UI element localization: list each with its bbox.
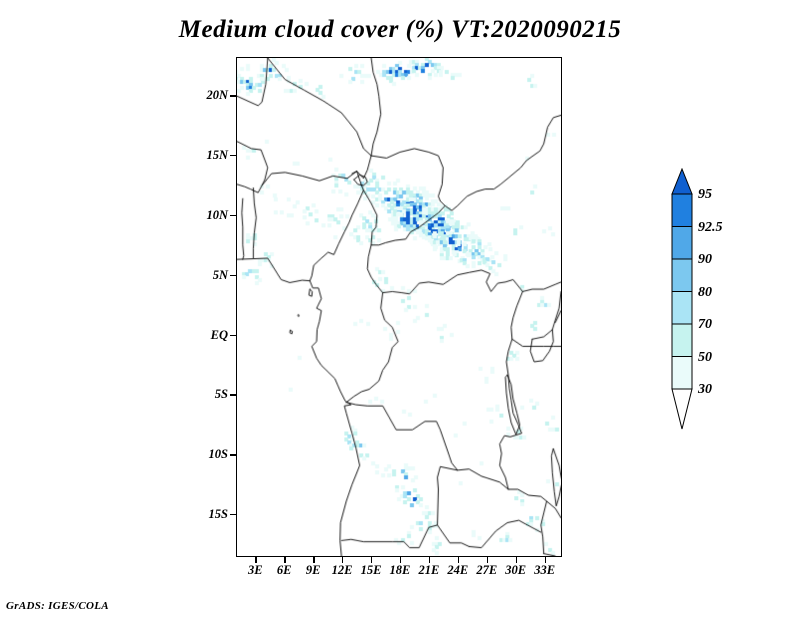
latitude-tick-mark [230,514,236,515]
page-title: Medium cloud cover (%) VT:2020090215 [0,16,800,44]
colorbar-extend-high [672,169,692,194]
colorbar-extend-low [672,389,692,429]
latitude-tick-label-15n: 15N [182,149,228,161]
colorbar-tick-label-70: 70 [698,318,712,332]
cloud-cover-colorbar: 9592.59080705030 [668,168,798,453]
colorbar-band [672,227,692,260]
latitude-tick-label-5s: 5S [182,388,228,400]
latitude-tick-label-eq: EQ [182,329,228,341]
colorbar-swatches [668,168,798,453]
colorbar-tick-label-50: 50 [698,351,712,365]
longitude-tick-mark [429,557,430,563]
colorbar-band [672,324,692,357]
colorbar-band [672,292,692,325]
colorbar-band [672,259,692,292]
longitude-tick-mark [458,557,459,563]
latitude-tick-label-5n: 5N [182,269,228,281]
colorbar-tick-label-95: 95 [698,188,712,202]
latitude-tick-mark [230,275,236,276]
latitude-tick-mark [230,95,236,96]
colorbar-tick-label-30: 30 [698,383,712,397]
map-plot-frame [236,57,562,557]
latitude-tick-label-15s: 15S [182,508,228,520]
longitude-tick-mark [516,557,517,563]
longitude-tick-mark [342,557,343,563]
colorbar-band [672,357,692,390]
latitude-tick-label-10s: 10S [182,448,228,460]
longitude-tick-mark [371,557,372,563]
latitude-tick-label-20n: 20N [182,89,228,101]
longitude-tick-mark [545,557,546,563]
longitude-tick-mark [400,557,401,563]
latitude-tick-mark [230,155,236,156]
colorbar-tick-label-80: 80 [698,286,712,300]
colorbar-tick-label-92-5: 92.5 [698,221,723,235]
longitude-tick-mark [487,557,488,563]
latitude-tick-mark [230,394,236,395]
longitude-tick-label-33e: 33E [525,564,565,576]
colorbar-band [672,194,692,227]
colorbar-tick-label-90: 90 [698,253,712,267]
latitude-tick-mark [230,454,236,455]
cloud-cover-map-canvas [237,58,561,556]
grads-credit: GrADS: IGES/COLA [6,600,109,612]
longitude-tick-mark [313,557,314,563]
latitude-tick-label-10n: 10N [182,209,228,221]
latitude-tick-mark [230,335,236,336]
longitude-tick-mark [284,557,285,563]
longitude-tick-mark [255,557,256,563]
latitude-tick-mark [230,215,236,216]
